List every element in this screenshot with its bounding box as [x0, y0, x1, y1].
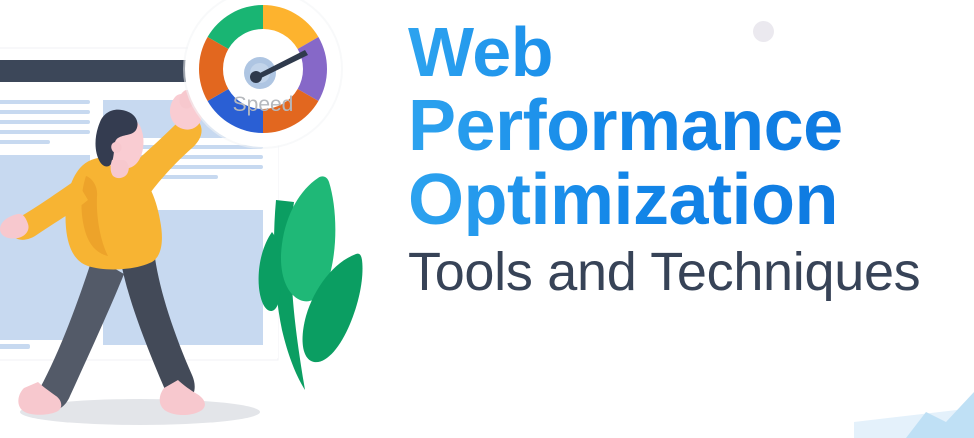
poster-canvas: Speed Web Performance Optimization Tools…	[0, 0, 974, 438]
title-line-2: Performance	[408, 91, 954, 162]
subtitle: Tools and Techniques	[408, 244, 954, 301]
headline-block: Web Performance Optimization Tools and T…	[408, 18, 954, 300]
browser-header-bar	[0, 60, 186, 82]
blue-corner-shape	[854, 378, 974, 438]
gauge-needle-cap	[250, 71, 262, 83]
hero-illustration: Speed	[0, 0, 400, 438]
title-line-3: Optimization	[408, 165, 954, 236]
title-line-1: Web	[408, 18, 954, 87]
illustration-svg: Speed	[0, 0, 400, 438]
gauge-label: Speed	[233, 93, 294, 116]
